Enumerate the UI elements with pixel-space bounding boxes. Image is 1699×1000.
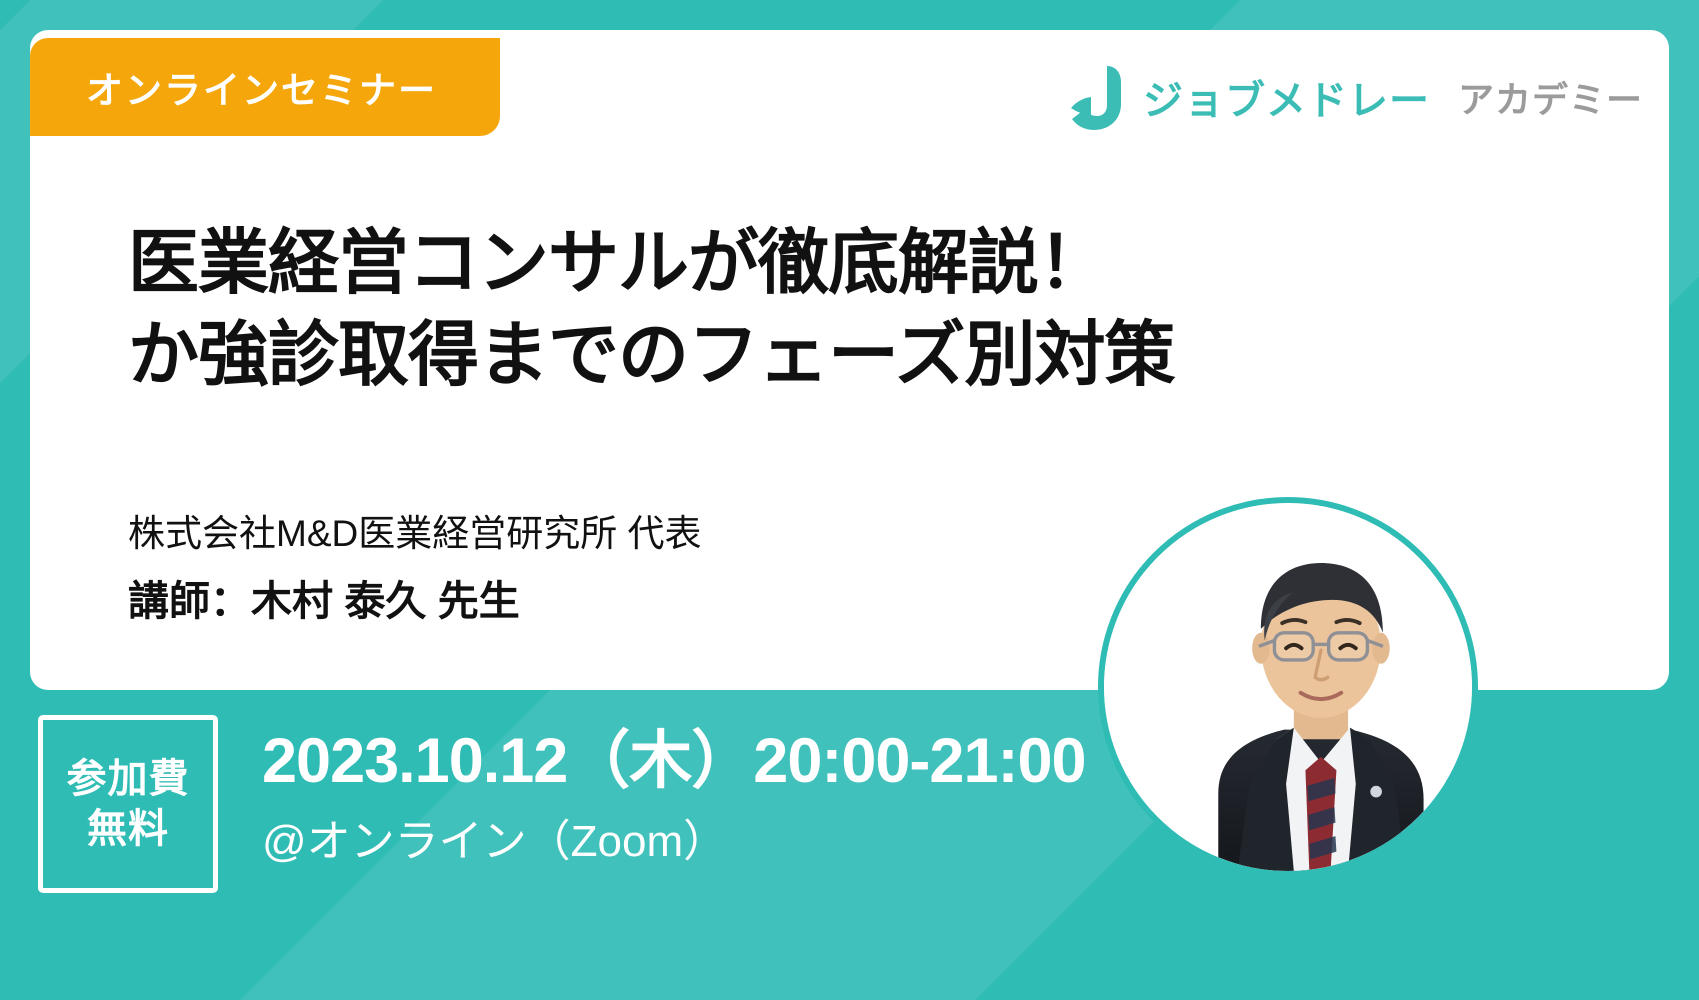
- jobmedley-j-crescent-logo-icon: [1071, 64, 1125, 130]
- fee-value: 無料: [87, 806, 169, 852]
- title-line-1: 医業経営コンサルが徹底解説！: [128, 218, 1174, 310]
- speaker-organization: 株式会社M&D医業経営研究所 代表: [128, 505, 702, 562]
- event-datetime: 2023.10.12（木）20:00-21:00: [262, 724, 1086, 800]
- seminar-poster: オンラインセミナー ジョブメドレー アカデミー 医業経営コンサルが徹底解説！ か…: [0, 0, 1699, 1000]
- brand-logo: ジョブメドレー アカデミー: [1071, 62, 1643, 132]
- fee-label: 参加費: [67, 756, 190, 802]
- speaker-name: 講師：木村 泰久 先生: [128, 570, 702, 634]
- brand-name: ジョブメドレー: [1143, 68, 1430, 126]
- speaker-portrait: [1098, 497, 1478, 877]
- speaker-info: 株式会社M&D医業経営研究所 代表 講師：木村 泰久 先生: [128, 505, 702, 634]
- event-details: 2023.10.12（木）20:00-21:00 @オンライン（Zoom）: [262, 724, 1086, 869]
- event-venue: @オンライン（Zoom）: [262, 814, 1086, 869]
- badge-label: オンラインセミナー: [86, 60, 437, 114]
- seminar-title: 医業経営コンサルが徹底解説！ か強診取得までのフェーズ別対策: [128, 218, 1174, 403]
- online-seminar-badge: オンラインセミナー: [30, 38, 500, 136]
- title-line-2: か強診取得までのフェーズ別対策: [128, 310, 1174, 402]
- fee-badge: 参加費 無料: [38, 715, 218, 893]
- brand-subname: アカデミー: [1458, 71, 1643, 123]
